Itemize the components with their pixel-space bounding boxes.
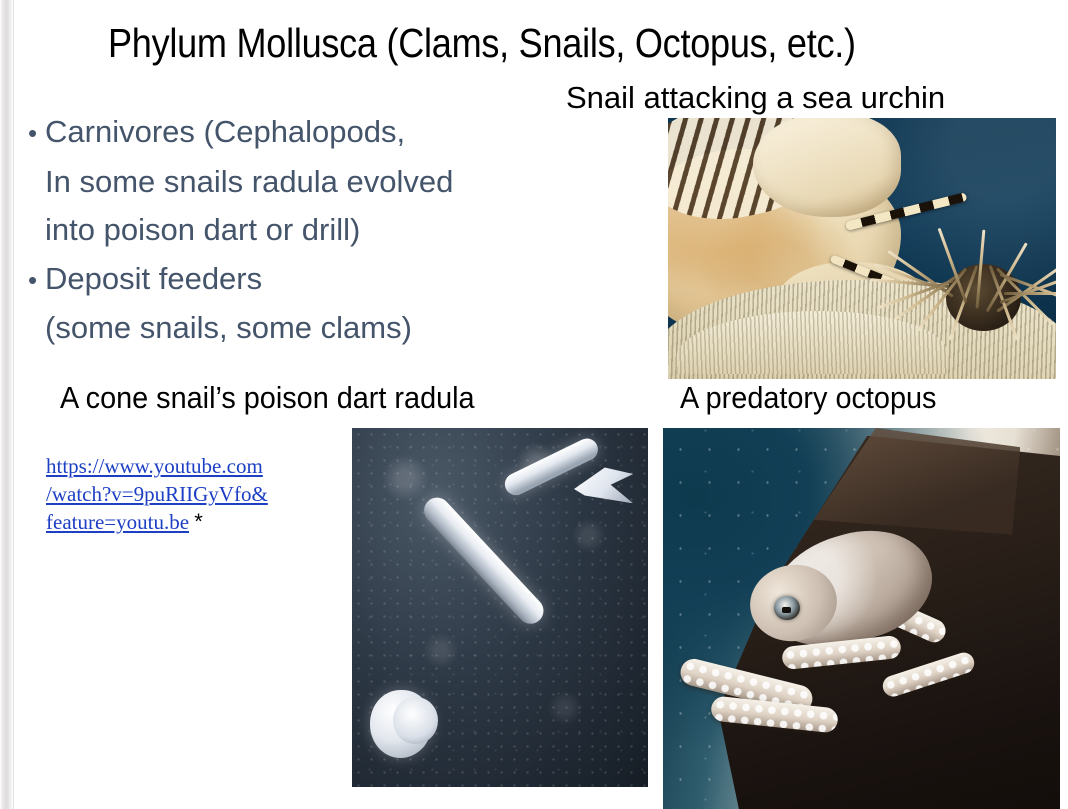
youtube-link-block[interactable]: https://www.youtube.com /watch?v=9puRIIG… (46, 452, 346, 536)
slide-left-edge-line (13, 0, 14, 809)
bullet-item-1: •Carnivores (Cephalopods, (28, 108, 628, 158)
slide-title: Phylum Mollusca (Clams, Snails, Octopus,… (108, 20, 882, 66)
bullet-marker: • (28, 109, 45, 158)
youtube-hyperlink-line-1[interactable]: https://www.youtube.com (46, 454, 263, 478)
bullet-item-5: (some snails, some clams) (28, 304, 628, 353)
figure-image-cone-snail-radula (352, 428, 648, 787)
youtube-hyperlink-line-2[interactable]: /watch?v=9puRIIGyVfo& (46, 482, 268, 506)
figure-image-predatory-octopus (663, 428, 1060, 809)
bullet-item-2: In some snails radula evolved (28, 158, 628, 207)
radula-base-bulb-inner (393, 697, 437, 744)
bullet-text: into poison dart or drill) (45, 212, 360, 247)
slide-left-edge-shadow (0, 0, 13, 809)
sea-urchin (878, 207, 1049, 358)
figure-caption-radula: A cone snail’s poison dart radula (60, 380, 475, 416)
bullet-item-4: •Deposit feeders (28, 255, 628, 305)
bullet-list: •Carnivores (Cephalopods, In some snails… (28, 108, 628, 353)
octopus-pupil (782, 607, 791, 613)
bullet-text: Deposit feeders (45, 261, 262, 296)
bullet-text: (some snails, some clams) (45, 310, 412, 345)
figure-image-snail-attacking-sea-urchin (668, 118, 1056, 379)
figure-caption-octopus: A predatory octopus (680, 380, 936, 416)
bullet-text: Carnivores (Cephalopods, (45, 114, 405, 149)
snail-shell-lip (753, 118, 900, 217)
slide-canvas: Phylum Mollusca (Clams, Snails, Octopus,… (0, 0, 1068, 809)
bullet-text: In some snails radula evolved (45, 164, 453, 199)
footnote-asterisk: * (194, 509, 203, 534)
bullet-item-3: into poison dart or drill) (28, 206, 628, 255)
bullet-marker: • (28, 256, 45, 305)
youtube-hyperlink-line-3[interactable]: feature=youtu.be (46, 510, 189, 534)
